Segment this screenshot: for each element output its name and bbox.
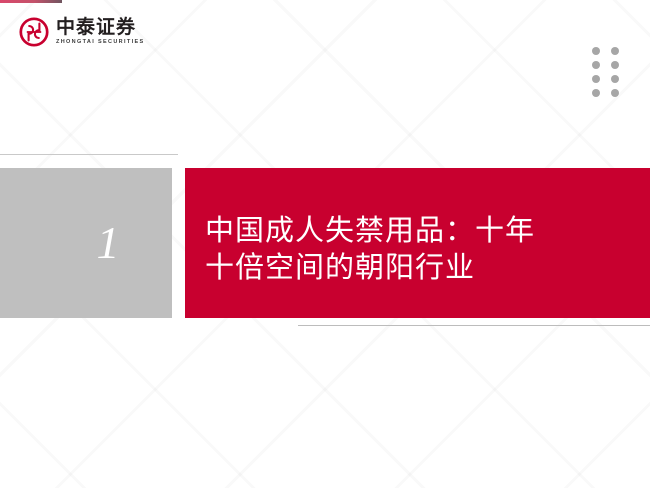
top-accent-bar (0, 0, 62, 3)
grid-dot (611, 47, 619, 55)
section-title: 中国成人失禁用品：十年 十倍空间的朝阳行业 (205, 212, 635, 286)
section-number: 1 (0, 168, 172, 318)
grid-dot (592, 47, 600, 55)
grid-dot (611, 89, 619, 97)
grid-dot (592, 89, 600, 97)
grid-dot (592, 75, 600, 83)
upper-divider-rule (0, 154, 178, 155)
brand-name-cn: 中泰证券 (56, 18, 145, 37)
zhongtai-circular-emblem-icon (19, 17, 49, 47)
section-title-banner: 中国成人失禁用品：十年 十倍空间的朝阳行业 (185, 168, 650, 318)
lower-divider-rule (298, 325, 650, 326)
section-number-block: 1 (0, 168, 172, 318)
grid-dot (611, 75, 619, 83)
brand-wordmark: 中泰证券 ZHONGTAI SECURITIES (56, 18, 145, 46)
decorative-dot-grid (592, 47, 619, 97)
brand-name-en: ZHONGTAI SECURITIES (56, 40, 145, 46)
brand-logo: 中泰证券 ZHONGTAI SECURITIES (19, 17, 145, 47)
presentation-slide: 中泰证券 ZHONGTAI SECURITIES 1 中国成人失禁用品：十年 十… (0, 0, 650, 488)
grid-dot (592, 61, 600, 69)
grid-dot (611, 61, 619, 69)
